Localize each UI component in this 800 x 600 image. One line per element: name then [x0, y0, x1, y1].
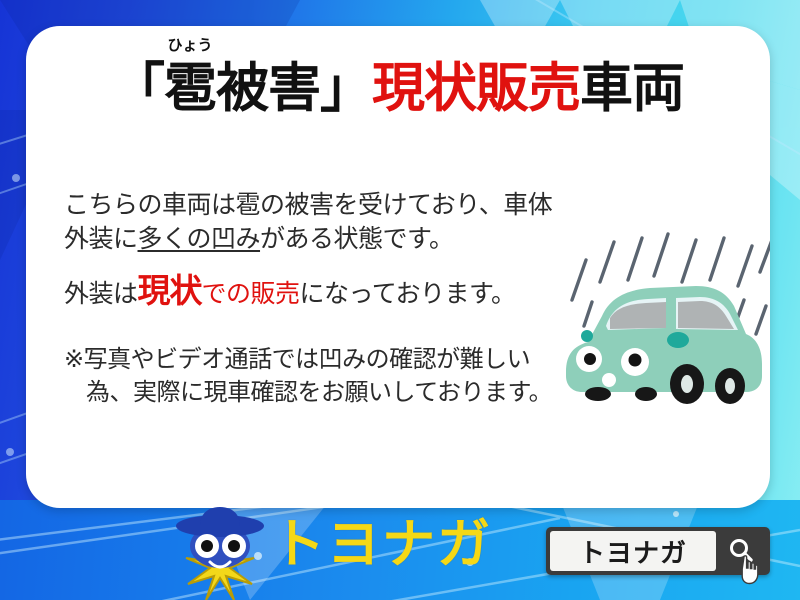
car-antenna-dot — [581, 330, 593, 342]
mascot-pupil-left — [201, 540, 213, 552]
car-front-wheel-small — [585, 387, 611, 401]
paragraph-note: ※写真やビデオ通話では凹みの確認が難しい 為、実際に現車確認をお願いしております… — [64, 343, 584, 410]
p1-line-c: がある状態です。 — [260, 224, 454, 253]
toyonaga-star-mascot — [166, 506, 274, 600]
car-side-mirror — [667, 332, 689, 348]
car-pupil-left — [584, 353, 596, 365]
car-body-group — [566, 286, 762, 404]
paragraph-condition: こちらの車両は雹の被害を受けており、車体 外装に多くの凹みがある状態です。 — [64, 188, 584, 256]
p3-line-1: ※写真やビデオ通話では凹みの確認が難しい — [64, 345, 530, 373]
hand-pointer-icon — [738, 555, 764, 585]
title-black-tail: 車両 — [580, 58, 684, 119]
mascot-pupil-right — [228, 540, 240, 552]
ruby-group-hail: ひょう雹 — [164, 62, 216, 115]
p2-red-sale: での販売 — [202, 279, 300, 308]
title-close-bracket: 」 — [320, 58, 372, 119]
mascot-hat-crown — [200, 507, 240, 526]
p3-line-2: 為、実際に現車確認をお願いしております。 — [64, 376, 552, 410]
hail-damaged-car-illustration — [554, 222, 770, 422]
info-card: 「ひょう雹被害」現状販売車両 こちらの車両は雹の被害を受けており、車体 外装に多… — [26, 26, 770, 508]
search-button[interactable] — [716, 531, 766, 571]
car-wheel-back-hub — [725, 378, 735, 394]
brand-wordmark: トヨナガ — [272, 518, 492, 571]
p2-prefix: 外装は — [64, 279, 138, 308]
car-pupil-right — [629, 354, 642, 367]
p1-line-a: こちらの車両は雹の被害を受けており、車体 — [64, 190, 552, 219]
title-kanji-damage: 被害 — [216, 58, 320, 119]
car-mid-wheel-small — [635, 387, 657, 401]
title-area: 「ひょう雹被害」現状販売車両 — [26, 62, 770, 115]
screenshot-root: 「ひょう雹被害」現状販売車両 こちらの車両は雹の被害を受けており、車体 外装に多… — [0, 0, 800, 600]
body-copy: こちらの車両は雹の被害を受けており、車体 外装に多くの凹みがある状態です。 外装… — [64, 188, 584, 410]
paragraph-as-is-sale: 外装は現状での販売になっております。 — [64, 270, 584, 313]
p2-emphasis-genjou: 現状 — [138, 271, 202, 310]
p1-line-b: 外装に — [64, 224, 138, 253]
p2-suffix: になっております。 — [300, 279, 516, 308]
search-query-text: トヨナガ — [579, 533, 687, 570]
furigana-hyou: ひょう — [167, 38, 212, 53]
p1-underlined-dents: 多くの凹み — [138, 224, 261, 253]
search-widget[interactable]: トヨナガ — [546, 527, 770, 575]
title-red-segment: 現状販売 — [372, 58, 580, 119]
car-wheel-rear-hub — [681, 375, 693, 393]
title-open-bracket: 「 — [112, 58, 164, 119]
page-title: 「ひょう雹被害」現状販売車両 — [112, 62, 684, 115]
title-kanji-hail: 雹 — [164, 58, 216, 119]
search-input[interactable]: トヨナガ — [550, 531, 716, 571]
car-nose — [602, 373, 616, 387]
